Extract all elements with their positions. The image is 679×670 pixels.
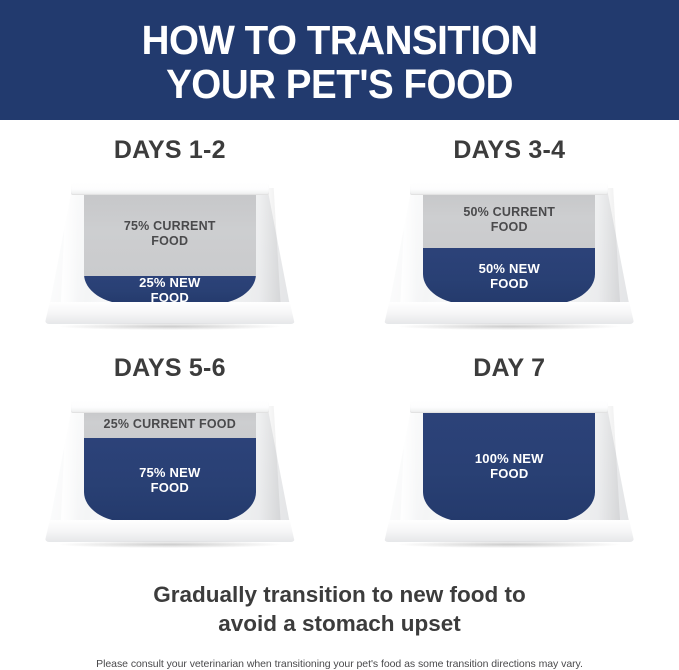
bowl-rim [410, 182, 608, 195]
transition-step-4: DAY 7 100% NEW FOOD [354, 354, 664, 572]
bowl-drop-shadow [398, 541, 620, 548]
transition-steps-grid: DAYS 1-2 75% CURRENT FOOD 25% NEW FOOD D… [0, 120, 679, 572]
step-3-bowl: 25% CURRENT FOOD 75% NEW FOOD [49, 396, 291, 548]
header-title-line-2: YOUR PET'S FOOD [166, 62, 513, 106]
step-1-current-food-label: 75% CURRENT FOOD [124, 219, 216, 249]
step-4-bowl: 100% NEW FOOD [388, 396, 630, 548]
step-2-title: DAYS 3-4 [453, 136, 565, 165]
bowl-rim [71, 400, 269, 413]
new-food-layer: 100% NEW FOOD [423, 410, 595, 522]
bowl-drop-shadow [59, 541, 281, 548]
bowl-drop-shadow [398, 323, 620, 330]
header-title-line-1: HOW TO TRANSITION [142, 18, 538, 62]
step-1-title: DAYS 1-2 [114, 136, 226, 165]
current-food-layer: 75% CURRENT FOOD [84, 192, 256, 276]
bowl-food-cavity: 25% CURRENT FOOD 75% NEW FOOD [84, 410, 256, 522]
bowl-drop-shadow [59, 323, 281, 330]
new-food-layer: 75% NEW FOOD [84, 438, 256, 522]
bowl-rim [71, 182, 269, 195]
step-2-new-food-label: 50% NEW FOOD [479, 261, 540, 291]
transition-step-2: DAYS 3-4 50% CURRENT FOOD 50% NEW FOOD [354, 136, 664, 354]
transition-step-3: DAYS 5-6 25% CURRENT FOOD 75% NEW FOOD [15, 354, 325, 572]
footer-headline-line-1: Gradually transition to new food to [0, 580, 679, 609]
new-food-layer: 25% NEW FOOD [84, 276, 256, 304]
step-2-current-food-label: 50% CURRENT FOOD [463, 205, 555, 235]
step-2-bowl: 50% CURRENT FOOD 50% NEW FOOD [388, 178, 630, 330]
bowl-base [45, 302, 295, 324]
step-4-title: DAY 7 [473, 354, 545, 383]
step-4-new-food-label: 100% NEW FOOD [475, 451, 544, 481]
footer-headline-line-2: avoid a stomach upset [0, 609, 679, 638]
step-3-new-food-label: 75% NEW FOOD [139, 465, 200, 495]
current-food-layer: 50% CURRENT FOOD [423, 192, 595, 248]
bowl-food-cavity: 75% CURRENT FOOD 25% NEW FOOD [84, 192, 256, 304]
bowl-food-cavity: 100% NEW FOOD [423, 410, 595, 522]
bowl-base [45, 520, 295, 542]
footer: Gradually transition to new food to avoi… [0, 572, 679, 670]
disclaimer-text: Please consult your veterinarian when tr… [0, 658, 679, 670]
new-food-layer: 50% NEW FOOD [423, 248, 595, 304]
step-1-new-food-label: 25% NEW FOOD [139, 275, 200, 304]
current-food-layer: 25% CURRENT FOOD [84, 410, 256, 438]
step-3-current-food-label: 25% CURRENT FOOD [104, 417, 236, 432]
bowl-base [384, 520, 634, 542]
step-1-bowl: 75% CURRENT FOOD 25% NEW FOOD [49, 178, 291, 330]
step-3-title: DAYS 5-6 [114, 354, 226, 383]
header-banner: HOW TO TRANSITION YOUR PET'S FOOD [0, 0, 679, 120]
bowl-food-cavity: 50% CURRENT FOOD 50% NEW FOOD [423, 192, 595, 304]
bowl-base [384, 302, 634, 324]
transition-step-1: DAYS 1-2 75% CURRENT FOOD 25% NEW FOOD [15, 136, 325, 354]
bowl-rim [410, 400, 608, 413]
